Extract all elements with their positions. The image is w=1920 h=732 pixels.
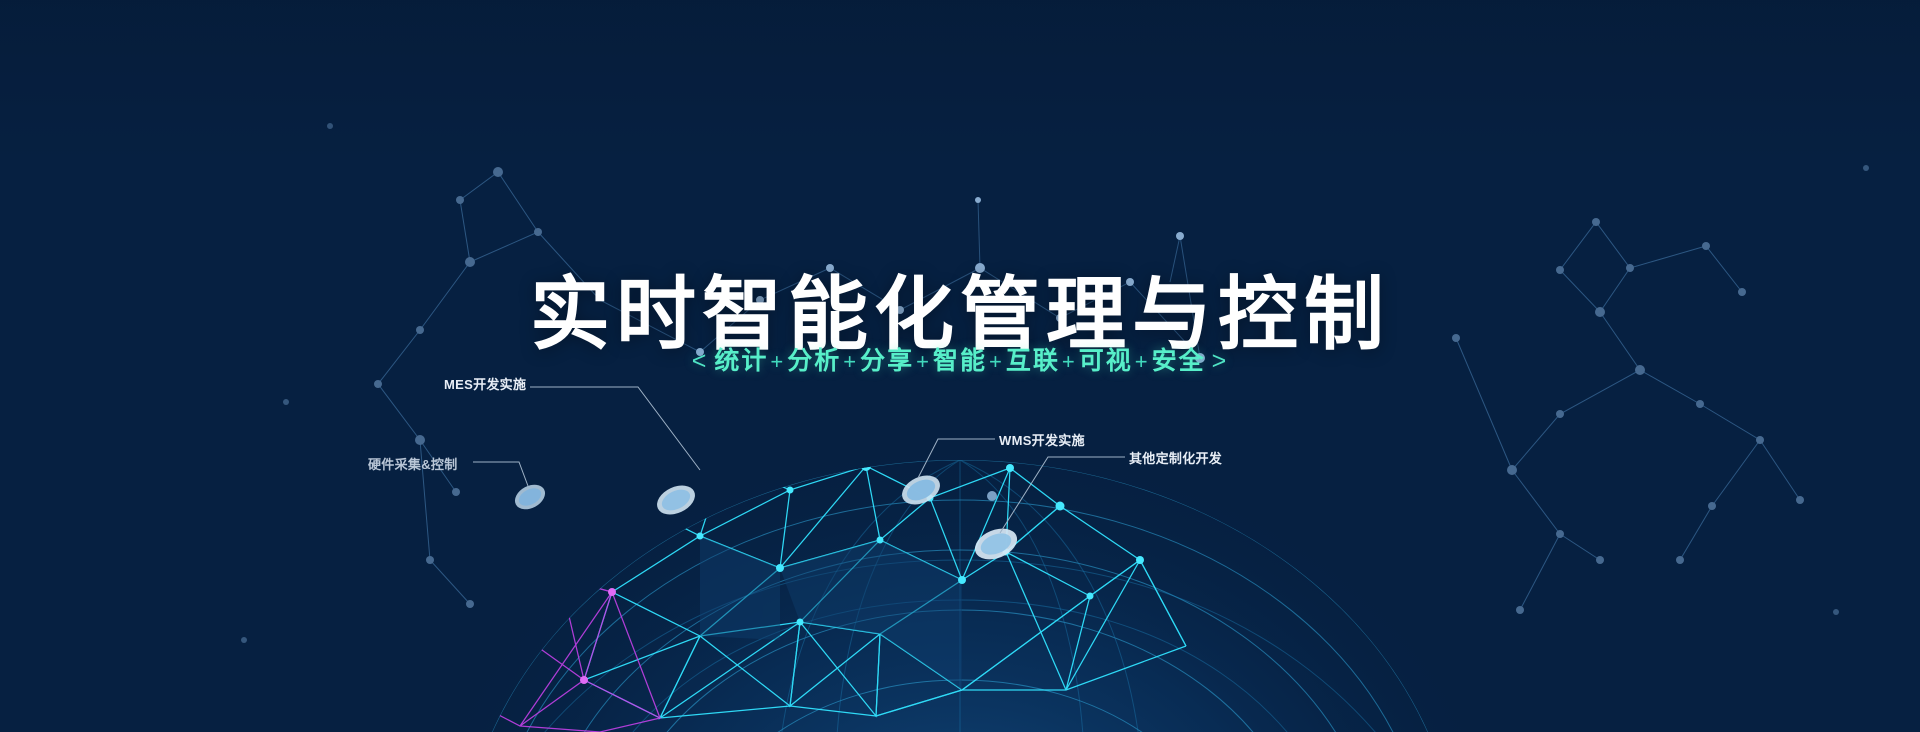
leader-line-wms [918, 439, 995, 478]
subtitle-keyword-6: 安全 [1152, 347, 1206, 375]
subtitle-separator: + [768, 349, 787, 374]
subtitle-separator: + [1060, 349, 1079, 374]
subtitle-keyword-2: 分享 [860, 347, 914, 375]
subtitle-open-bracket: < [686, 347, 715, 375]
hero-subtitle-block: <统计+分析+分享+智能+互联+可视+安全> [0, 341, 1920, 377]
callout-label-wms: WMS开发实施 [999, 430, 1085, 449]
subtitle-separator: + [987, 349, 1006, 374]
subtitle-keyword-4: 互联 [1006, 347, 1060, 375]
subtitle-separator: + [841, 349, 860, 374]
subtitle-keyword-5: 可视 [1079, 347, 1133, 375]
subtitle-keyword-1: 分析 [787, 347, 841, 375]
subtitle-separator: + [914, 349, 933, 374]
leader-line-hardware [473, 462, 528, 486]
hero-banner: 实时智能化管理与控制 <统计+分析+分享+智能+互联+可视+安全> MES开发实… [0, 0, 1920, 732]
subtitle-keyword-3: 智能 [933, 347, 987, 375]
subtitle-close-bracket: > [1206, 347, 1235, 375]
callout-label-mes: MES开发实施 [444, 374, 526, 393]
leader-line-mes [530, 387, 700, 470]
callout-label-hardware: 硬件采集&控制 [368, 454, 458, 473]
callout-label-custom: 其他定制化开发 [1129, 448, 1222, 467]
leader-line-custom [1000, 457, 1125, 533]
subtitle-keyword-0: 统计 [714, 347, 768, 375]
subtitle-keywords: <统计+分析+分享+智能+互联+可视+安全> [686, 341, 1234, 377]
subtitle-separator: + [1133, 349, 1152, 374]
